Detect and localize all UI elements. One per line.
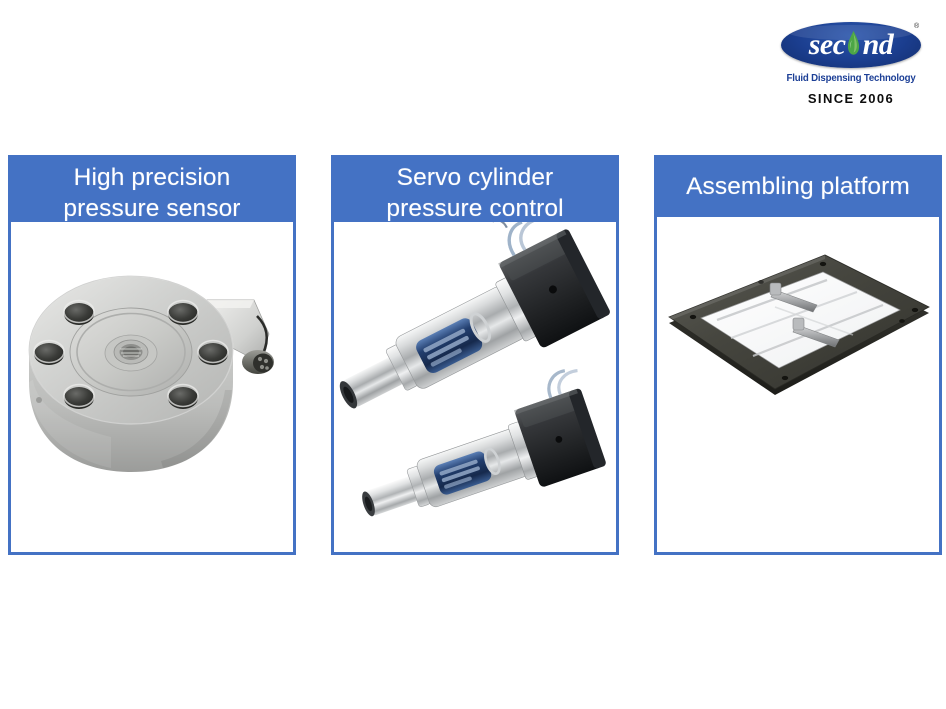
product-card-sensor[interactable]: High precision pressure sensor <box>8 155 296 555</box>
card-title-line-2: pressure control <box>337 193 613 224</box>
product-card-cylinder-body: secnd Fluid Dispensing Technology SINCE … <box>334 222 616 552</box>
product-card-cylinder[interactable]: Servo cylinder pressure control <box>331 155 619 555</box>
brand-logo-block: secnd ® Fluid Dispensing Technology SINC… <box>762 22 940 112</box>
card-title-line-1: Servo cylinder <box>337 162 613 193</box>
product-card-cylinder-header: Servo cylinder pressure control <box>331 155 619 222</box>
brand-wordmark-prefix: sec <box>809 28 846 61</box>
brand-wordmark-suffix: nd <box>863 28 894 61</box>
product-card-sensor-body: secnd Fluid Dispensing Technology SINCE … <box>11 222 293 552</box>
brand-since-year: SINCE 2006 <box>762 91 940 106</box>
card-title-line-1: Assembling platform <box>660 171 936 202</box>
product-card-sensor-header: High precision pressure sensor <box>8 155 296 222</box>
product-image-servo-cylinder <box>334 222 616 552</box>
water-drop-icon <box>847 30 860 56</box>
product-card-platform-body: secnd Fluid Dispensing Technology SINCE … <box>657 217 939 552</box>
brand-tagline: Fluid Dispensing Technology <box>769 72 933 84</box>
card-title-line-1: High precision <box>14 162 290 193</box>
brand-logo: secnd ® <box>781 22 921 70</box>
product-image-pressure-sensor <box>11 222 293 552</box>
product-card-platform-header: Assembling platform <box>654 155 942 217</box>
product-image-assembling-platform <box>657 217 939 552</box>
product-card-platform[interactable]: Assembling platform <box>654 155 942 555</box>
registered-trademark-icon: ® <box>914 23 919 30</box>
card-title-line-2: pressure sensor <box>14 193 290 224</box>
